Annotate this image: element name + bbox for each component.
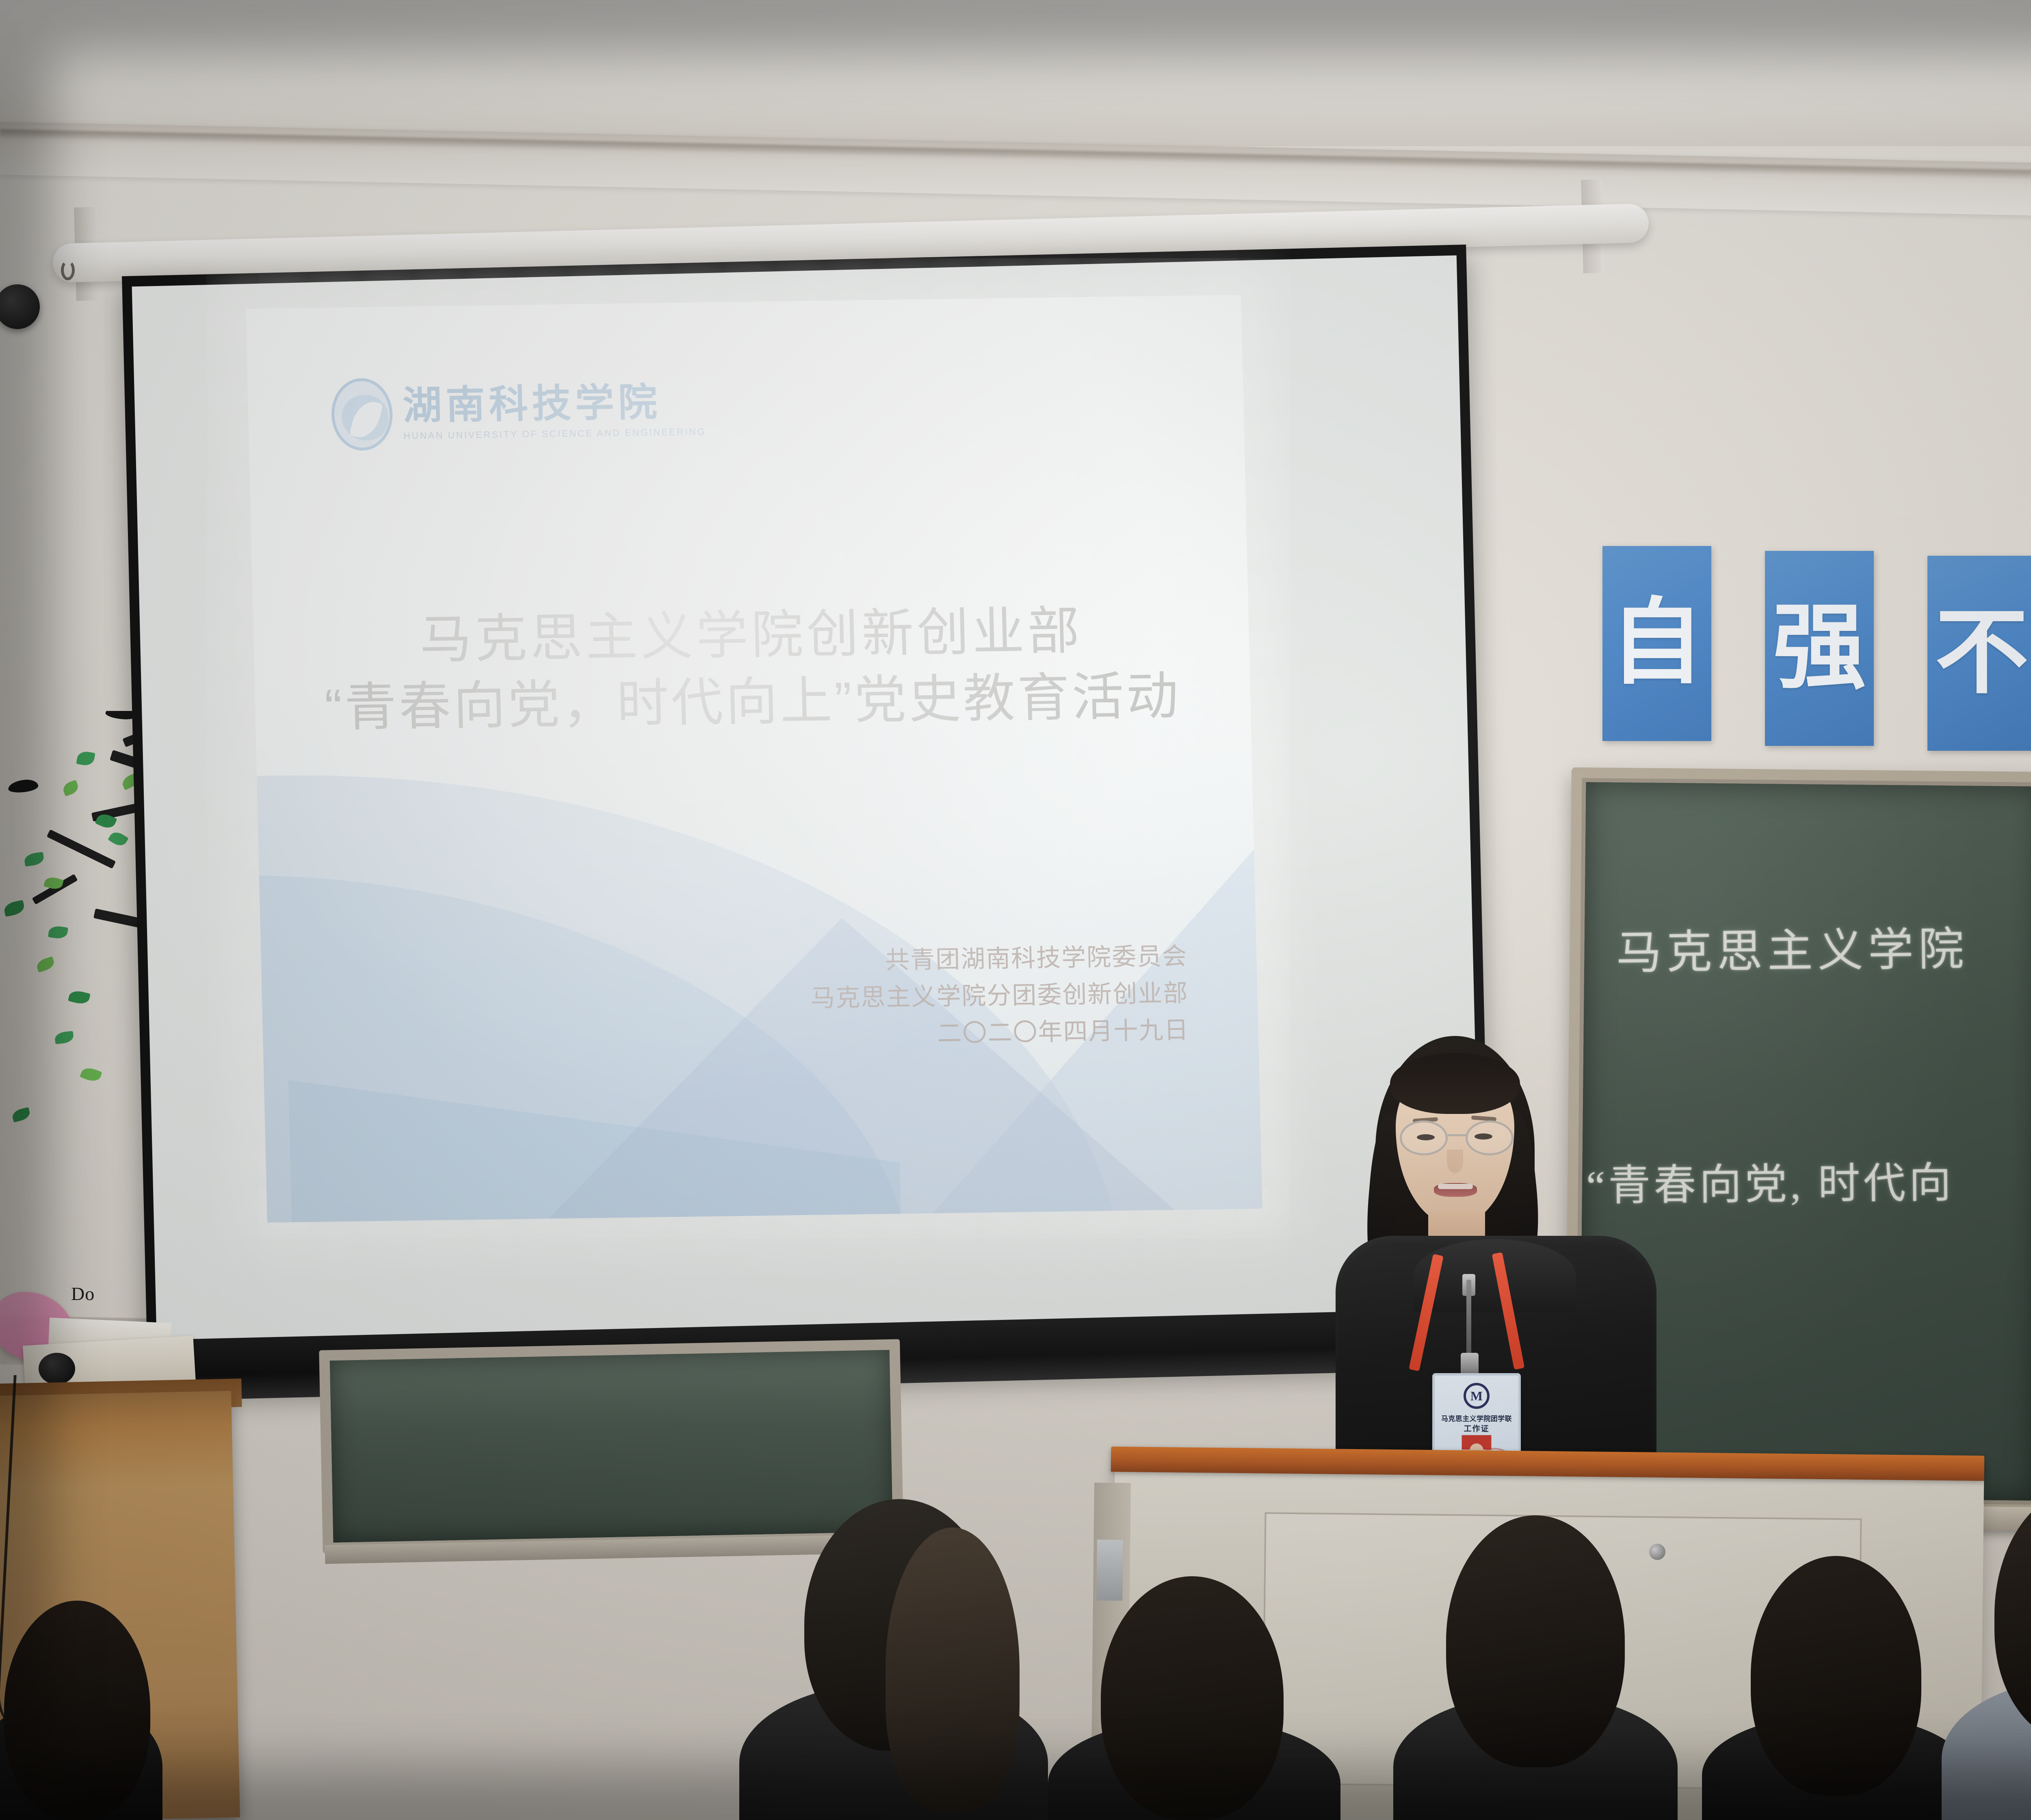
wall-banner-ziqiangbuxi: 自 强 不 息 xyxy=(1602,540,2031,752)
banner-char-1: 自 xyxy=(1610,597,1704,690)
banner-panel-2: 强 xyxy=(1765,551,1874,746)
presenter: M 马克思主义学院团学联 工作证 姓名 部门 xyxy=(1312,1028,1678,1507)
presenter-mouth xyxy=(1434,1183,1477,1197)
banner-char-2: 强 xyxy=(1773,602,1866,695)
eyeglass-lens-left xyxy=(1400,1120,1448,1155)
slide-footer-line3: 二〇二〇年四月十九日 xyxy=(811,1012,1189,1054)
slide-footer-line1: 共青团湖南科技学院委员会 xyxy=(809,938,1188,980)
slide-logo-english: HUNAN UNIVERSITY OF SCIENCE AND ENGINEER… xyxy=(403,426,706,441)
badge-organization: 马克思主义学院团学联 xyxy=(1435,1413,1518,1423)
slide-title-line2: “青春向党，时代向上”党史教育活动 xyxy=(254,662,1251,742)
lectern-lock-icon[interactable] xyxy=(1649,1544,1665,1560)
badge-logo-icon: M xyxy=(1464,1383,1490,1409)
presenter-teeth xyxy=(1438,1184,1473,1189)
screen-hook xyxy=(61,260,75,280)
secondary-blackboard-panel xyxy=(319,1339,903,1553)
banner-panel-3: 不 xyxy=(1927,556,2031,751)
blackboard-text-line1: 马克思主义学院 xyxy=(1616,912,1969,982)
eyeglass-bridge xyxy=(1448,1134,1466,1136)
presenter-fringe xyxy=(1390,1053,1520,1114)
audience-member-head xyxy=(1751,1556,1921,1796)
presenter-nose xyxy=(1447,1150,1463,1173)
slide-footer-block: 共青团湖南科技学院委员会 马克思主义学院分团委创新创业部 二〇二〇年四月十九日 xyxy=(809,938,1189,1054)
university-emblem-icon xyxy=(331,378,393,451)
audience-member-hair-highlight xyxy=(886,1527,1020,1812)
badge-type: 工作证 xyxy=(1435,1423,1518,1434)
banner-char-3: 不 xyxy=(1935,607,2029,700)
audience-member-head xyxy=(1101,1576,1284,1820)
projected-slide: 湖南科技学院 HUNAN UNIVERSITY OF SCIENCE AND E… xyxy=(246,295,1262,1223)
classroom-photo-scene: Do 湖南科技学院 HUNAN UNIVERSITY OF SCIENCE AN… xyxy=(0,0,2031,1820)
bird-decal xyxy=(8,778,39,794)
audience-member-head xyxy=(1446,1515,1625,1767)
lectern-hinge xyxy=(1096,1540,1123,1601)
audience-member-head-edge xyxy=(4,1601,150,1820)
wall-decal-word: Do xyxy=(71,1283,95,1304)
slide-wave-shape xyxy=(288,1072,903,1223)
slide-title-block: 马克思主义学院创新创业部 “青春向党，时代向上”党史教育活动 xyxy=(253,596,1251,743)
slide-footer-line2: 马克思主义学院分团委创新创业部 xyxy=(810,975,1189,1017)
slide-university-logo: 湖南科技学院 HUNAN UNIVERSITY OF SCIENCE AND E… xyxy=(331,373,706,451)
banner-panel-1: 自 xyxy=(1602,546,1711,741)
ceiling xyxy=(0,0,2031,146)
eyeglass-lens-right xyxy=(1466,1120,1514,1155)
slide-logo-chinese: 湖南科技学院 xyxy=(403,382,706,425)
